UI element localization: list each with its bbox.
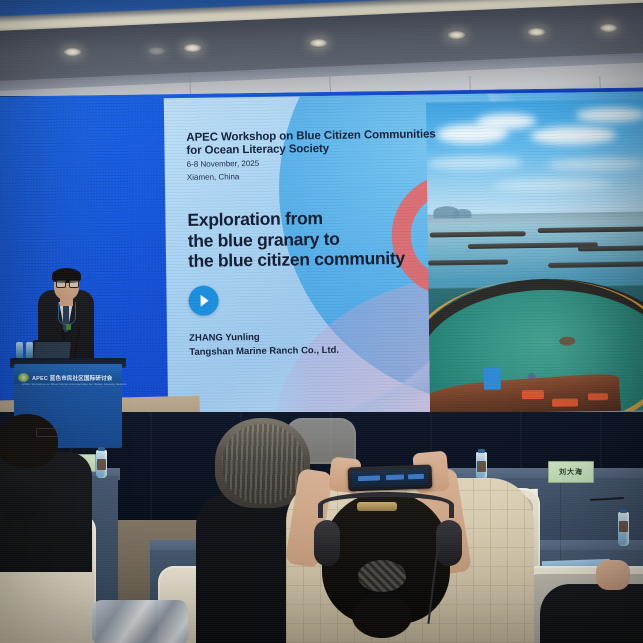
foil-object (92, 600, 188, 643)
ceiling (0, 0, 643, 96)
photo-crate (522, 390, 544, 399)
conference-photo-scene: APEC Workshop on Blue Citizen Communitie… (0, 0, 643, 643)
bottle-cap (478, 449, 485, 453)
phone-screen (352, 469, 429, 488)
foreground-person-hair-bun (352, 594, 412, 638)
apec-logo-icon (18, 373, 29, 382)
hair-scrunchie (358, 560, 406, 592)
slide-photo-marine-ranch (426, 99, 643, 416)
podium-banner-cn: APEC 蓝色市民社区国际研讨会 (32, 374, 113, 382)
downlight-icon (184, 44, 201, 52)
tablecloth-fold (560, 482, 561, 562)
laptop-screen (33, 342, 71, 358)
water-bottle-icon (96, 450, 107, 478)
audience-person-right-hand (596, 560, 630, 590)
downlight-icon (64, 48, 81, 56)
downlight-icon (528, 28, 545, 36)
presentation-slide: APEC Workshop on Blue Citizen Communitie… (164, 91, 643, 420)
downlight-icon (310, 39, 327, 47)
water-bottle-icon (476, 452, 487, 480)
water-bottle-icon (618, 512, 629, 546)
podium-banner-en: APEC Workshop on Blue Citizen Communitie… (22, 382, 127, 386)
play-icon (188, 285, 218, 315)
downlight-icon (448, 31, 465, 39)
eyeglasses-icon (56, 280, 77, 286)
downlight-icon (148, 47, 165, 55)
slide-location: Xiamen, China (187, 169, 437, 182)
aquaculture-pen-row (578, 245, 643, 251)
photo-island (453, 209, 471, 218)
audience-person-right-shoulder (540, 584, 643, 643)
headphone-earcup-left (314, 520, 340, 566)
speaker-lanyard (58, 302, 76, 325)
slide-date: 6-8 November, 2025 (187, 156, 437, 169)
name-card: 刘大海 (548, 461, 594, 483)
eyeglasses-icon (36, 428, 60, 437)
photo-crate (552, 398, 578, 406)
headphone-earcup-right (436, 520, 462, 566)
audience-person-mid-hair-texture (222, 424, 304, 504)
audience-person-left-arm (0, 470, 40, 520)
downlight-icon (600, 24, 617, 32)
smartphone-icon (348, 465, 433, 492)
photo-blue-container (484, 368, 501, 390)
headphones-icon (318, 492, 454, 518)
audience-person-left-head (0, 414, 58, 468)
name-card-text: 刘大海 (559, 467, 583, 477)
slide-title-line3: the blue citizen community (188, 247, 438, 271)
bottle-cap (620, 509, 627, 513)
photo-crate (588, 393, 608, 400)
bottle-cap (98, 447, 105, 451)
slide-text-block: APEC Workshop on Blue Citizen Communitie… (186, 94, 440, 359)
speaker-badge (66, 324, 71, 330)
